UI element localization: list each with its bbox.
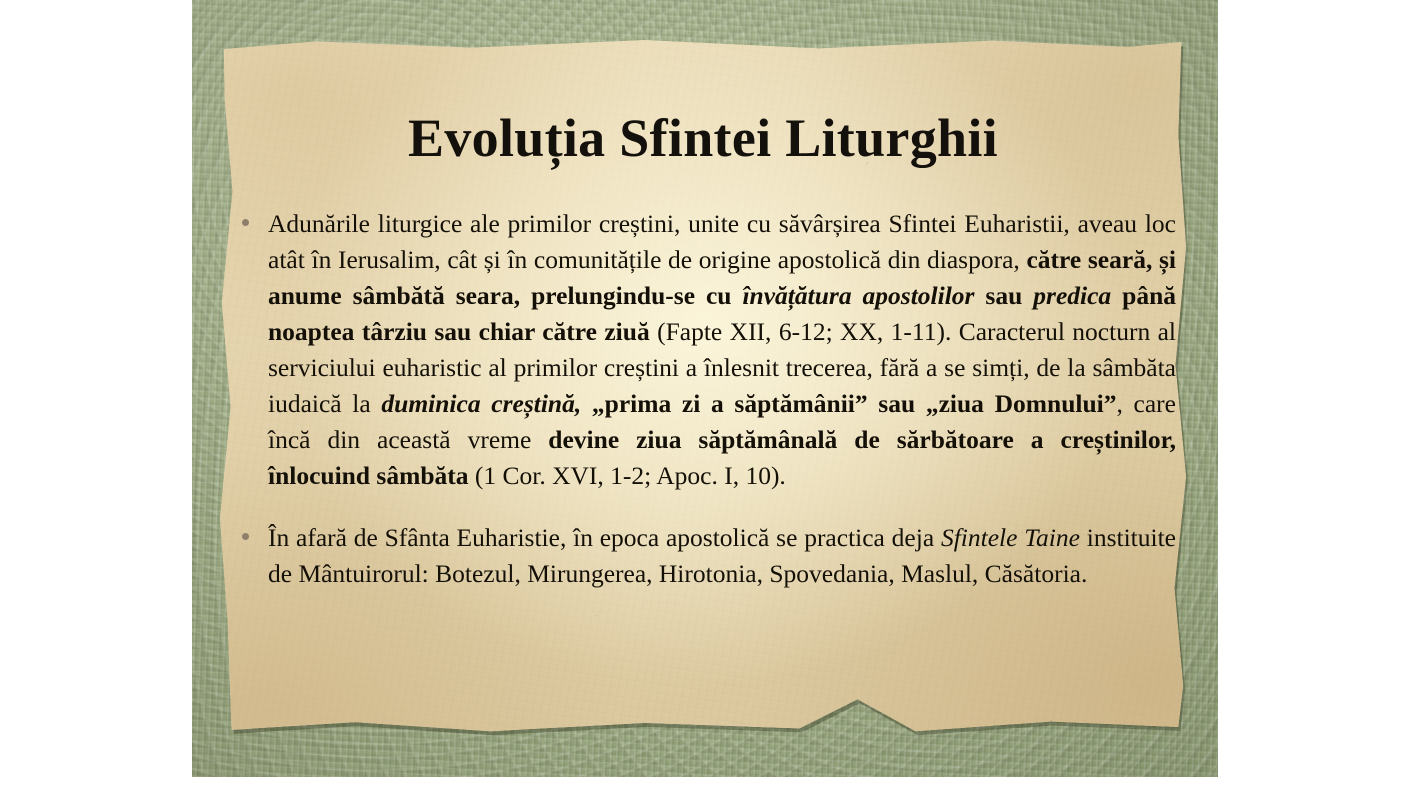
slide-green-frame: Evoluția Sfintei Liturghii Adunările lit… [192, 0, 1218, 777]
bullet-dot-icon [242, 533, 249, 540]
page-title: Evoluția Sfintei Liturghii [220, 110, 1186, 167]
list-item: În afară de Sfânta Euharistie, în epoca … [232, 520, 1176, 592]
slide-stage: Evoluția Sfintei Liturghii Adunările lit… [0, 0, 1410, 793]
paragraph-1-text: Adunările liturgice ale primilor creștin… [268, 206, 1176, 494]
paragraph-2-text: În afară de Sfânta Euharistie, în epoca … [268, 520, 1176, 592]
bullet-list: Adunările liturgice ale primilor creștin… [232, 206, 1176, 592]
bullet-dot-icon [242, 219, 249, 226]
list-item: Adunările liturgice ale primilor creștin… [232, 206, 1176, 494]
slide-content: Evoluția Sfintei Liturghii Adunările lit… [220, 38, 1186, 734]
